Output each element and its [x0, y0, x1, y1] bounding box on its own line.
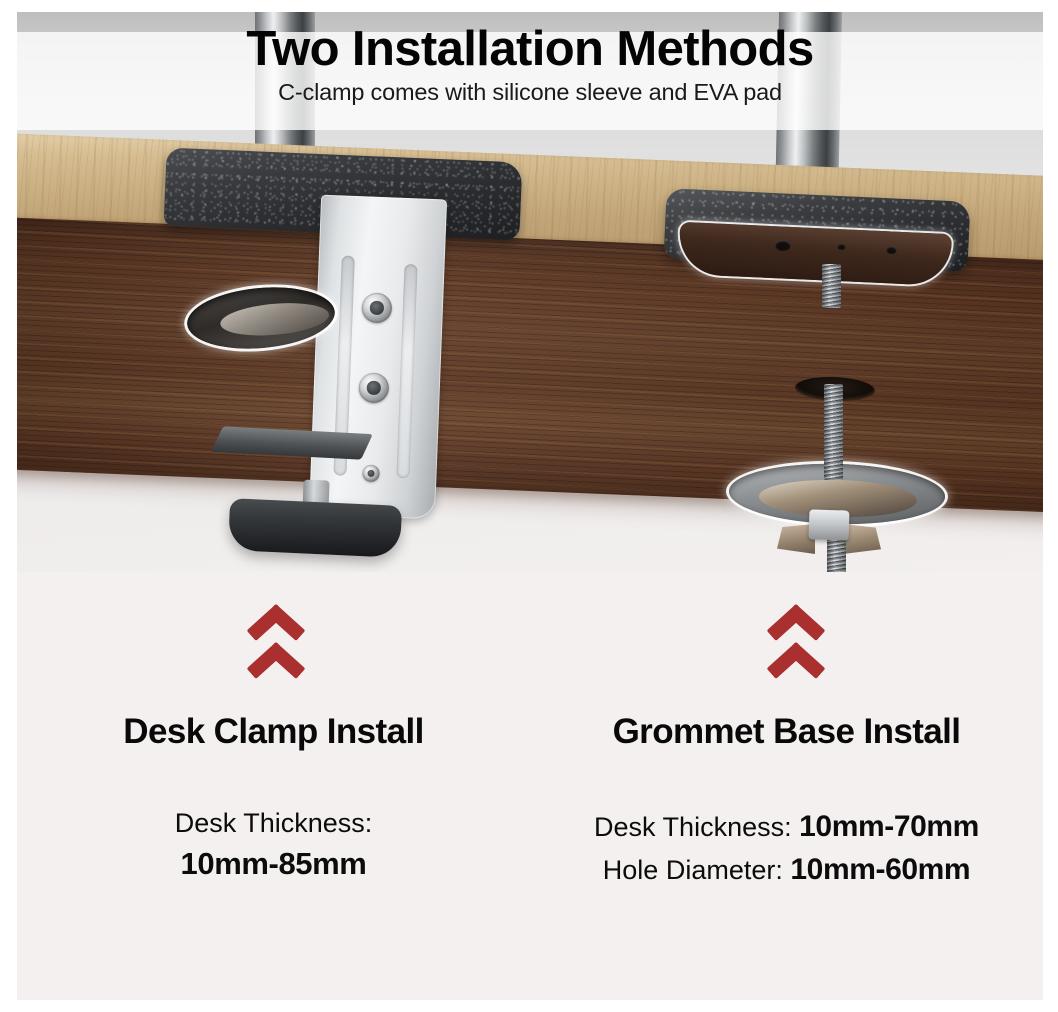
bracket-screw-middle: [358, 372, 389, 403]
spec-value: 10mm-85mm: [27, 844, 520, 884]
column-desk-clamp: Desk Clamp Install Desk Thickness: 10mm-…: [17, 712, 530, 891]
chevron-up-icon: [241, 640, 311, 673]
title-block: Two Installation Methods C-clamp comes w…: [17, 24, 1043, 106]
spec-label: Desk Thickness:: [175, 808, 373, 838]
threaded-bolt-middle: [824, 384, 843, 480]
spec-label: Hole Diameter:: [603, 855, 783, 885]
column-heading-desk-clamp: Desk Clamp Install: [27, 712, 520, 752]
chevron-up-icon: [241, 602, 311, 635]
chevron-up-icon: [761, 640, 831, 673]
double-chevron-up-icon-left: [229, 600, 325, 692]
spec-value: 10mm-60mm: [790, 853, 970, 886]
spec-value: 10mm-70mm: [799, 810, 979, 843]
steel-bracket-plate: [309, 195, 447, 520]
sleeve-inner-face: [219, 299, 331, 340]
product-photo-scene: Two Installation Methods C-clamp comes w…: [17, 12, 1043, 572]
infographic-canvas: Two Installation Methods C-clamp comes w…: [17, 12, 1043, 1000]
clamp-tightening-knob: [228, 498, 402, 558]
spec-block-grommet-base: Desk Thickness: 10mm-70mm Hole Diameter:…: [540, 806, 1033, 891]
double-chevron-up-icon-right: [749, 600, 845, 692]
bracket-slot-right: [396, 264, 417, 478]
spec-label: Desk Thickness:: [594, 812, 792, 842]
page-title: Two Installation Methods: [17, 24, 1043, 76]
caption-row: Desk Clamp Install Desk Thickness: 10mm-…: [17, 712, 1043, 891]
bracket-screw-top: [361, 292, 392, 323]
bracket-screw-bottom: [362, 464, 380, 482]
spec-desk-thickness: Desk Thickness: 10mm-85mm: [27, 806, 520, 884]
spec-block-desk-clamp: Desk Thickness: 10mm-85mm: [27, 806, 520, 884]
column-heading-grommet-base: Grommet Base Install: [540, 712, 1033, 752]
spec-desk-thickness: Desk Thickness: 10mm-70mm: [540, 806, 1033, 849]
hex-nut: [808, 509, 849, 540]
threaded-bolt-upper: [822, 264, 841, 308]
installation-methods-infographic: Two Installation Methods C-clamp comes w…: [0, 0, 1058, 1012]
page-subtitle: C-clamp comes with silicone sleeve and E…: [17, 79, 1043, 106]
arrow-row: [17, 600, 1043, 696]
chevron-up-icon: [761, 602, 831, 635]
column-grommet-base: Grommet Base Install Desk Thickness: 10m…: [530, 712, 1043, 891]
spec-hole-diameter: Hole Diameter: 10mm-60mm: [540, 849, 1033, 892]
